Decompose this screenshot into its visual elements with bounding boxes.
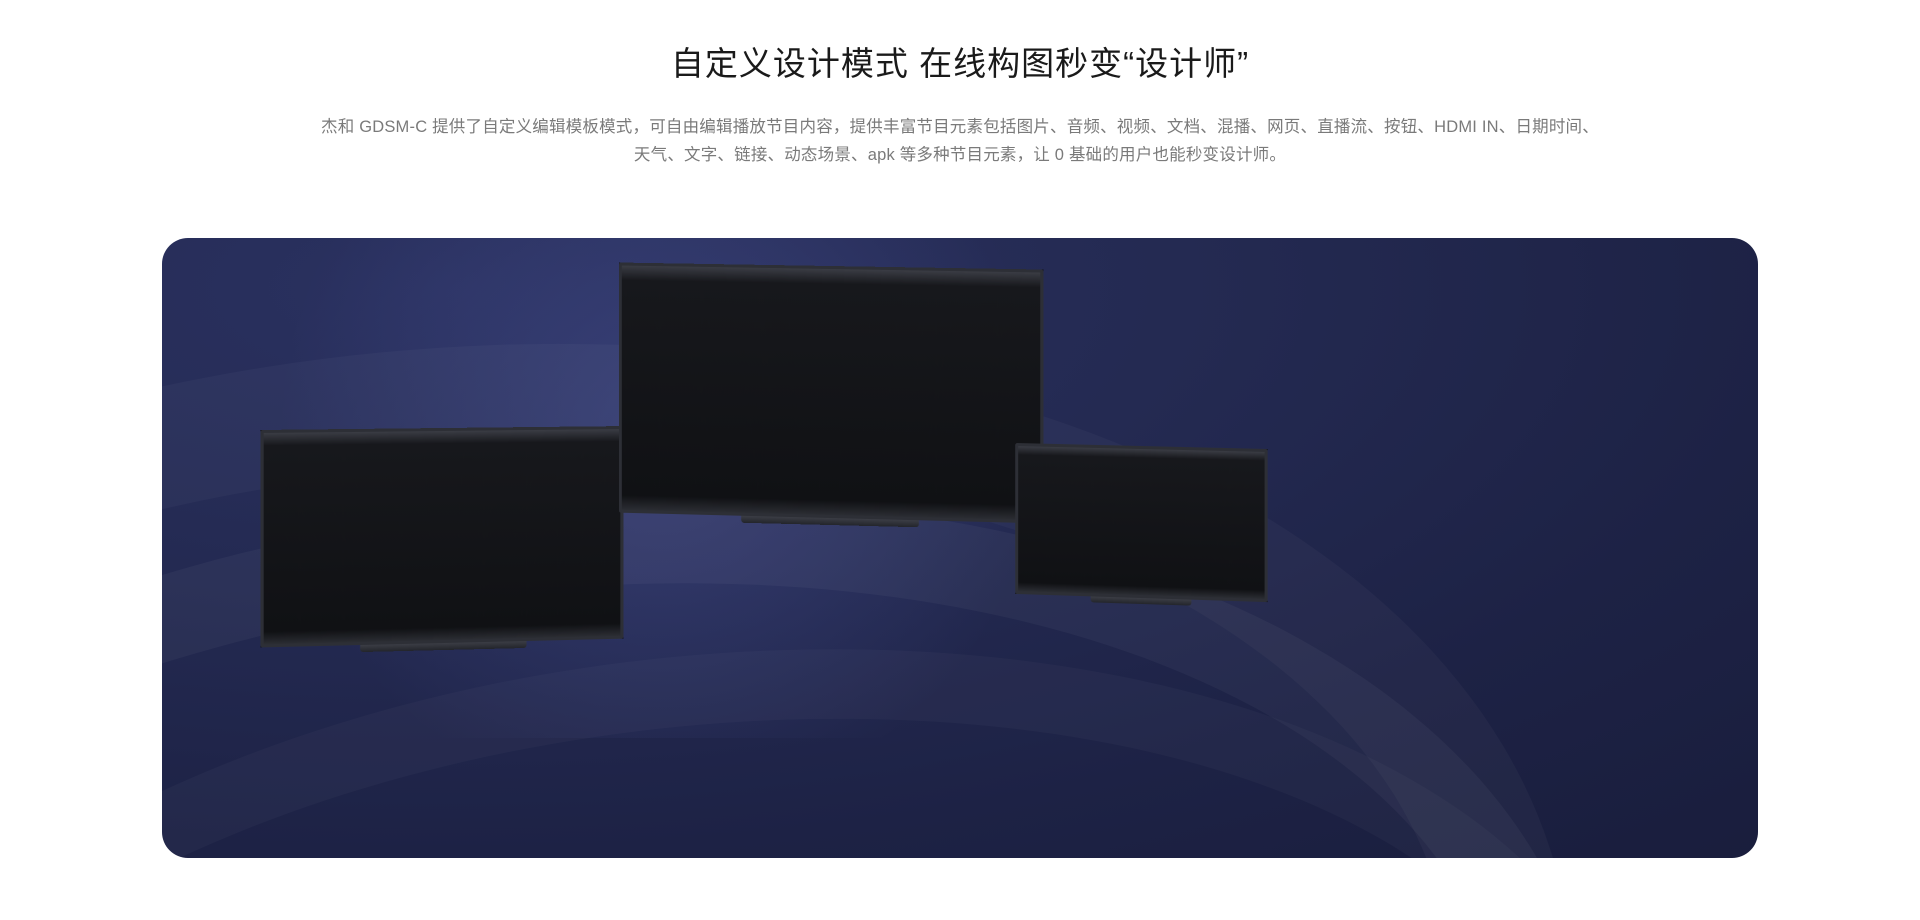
page-description: 杰和 GDSM-C 提供了自定义编辑模板模式，可自由编辑播放节目内容，提供丰富节… [315,113,1605,171]
page-description-line-1: 杰和 GDSM-C 提供了自定义编辑模板模式，可自由编辑播放节目内容，提供丰富节… [321,118,1477,136]
display-screen-menu[interactable]: 粥类 RICE PORRIDGE 千百叶仁粥 ¥15/份 皮蛋瘦肉粥 ¥15/份… [1015,443,1267,602]
header: 自定义设计模式 在线构图秒变“设计师” 杰和 GDSM-C 提供了自定义编辑模板… [0,0,1920,170]
display-screen-worldcup[interactable]: W O R L D C U P 与你相约世界杯 倒计时 2 天 Giada [619,263,1043,524]
page-title: 自定义设计模式 在线构图秒变“设计师” [0,42,1920,87]
worldcup-bezel [619,263,1043,524]
concert-bezel [261,426,624,647]
showcase-panel: Giada 2023 MUSIC 橘子音乐会 时间: 2023/05/01 [162,238,1758,858]
display-screen-concert[interactable]: Giada 2023 MUSIC 橘子音乐会 时间: 2023/05/01 [261,426,624,647]
page-root: 自定义设计模式 在线构图秒变“设计师” 杰和 GDSM-C 提供了自定义编辑模板… [0,0,1920,920]
menu-bezel [1015,443,1267,602]
